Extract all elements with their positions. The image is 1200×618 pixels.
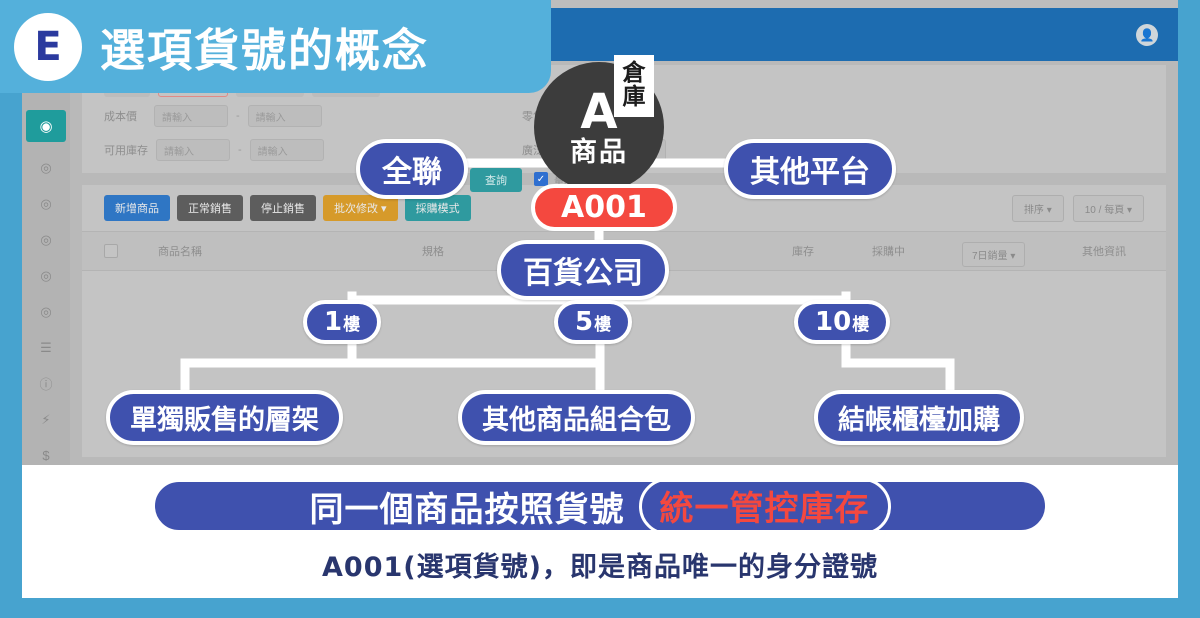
warehouse-badge-char-1: 倉 — [623, 62, 646, 86]
floor-unit: 樓 — [343, 310, 360, 335]
node-leaf-checkout-addon: 結帳櫃檯加購 — [814, 390, 1024, 445]
floor-number: 1 — [324, 307, 342, 337]
root-word: 商品 — [570, 139, 628, 166]
warehouse-badge-char-2: 庫 — [623, 86, 646, 110]
page-title: 選項貨號的概念 — [100, 14, 429, 79]
node-leaf-standalone-shelf: 單獨販售的層架 — [106, 390, 343, 445]
root-letter: A — [580, 88, 617, 136]
logo-letter: E — [34, 24, 61, 70]
brand-logo-icon: E — [14, 13, 82, 81]
node-leaf-bundle-pack: 其他商品組合包 — [458, 390, 695, 445]
summary-banner: 同一個商品按照貨號 統一管控庫存 — [151, 478, 1049, 534]
screenshot-root: 👤 🗏 ◉ ◎ ◎ ◎ ◎ ◎ ☰ ⓘ ⚡ $ 全部 正常銷售 停止銷售 尚未確… — [0, 0, 1200, 618]
floor-number: 5 — [575, 307, 593, 337]
floor-unit: 樓 — [852, 310, 869, 335]
node-floor-5: 5樓 — [554, 300, 632, 344]
subtitle-text: A001(選項貨號)，即是商品唯一的身分證號 — [0, 545, 1200, 584]
sku-pill: A001 — [531, 184, 677, 231]
warehouse-badge: 倉 庫 — [614, 55, 654, 117]
floor-number: 10 — [815, 307, 851, 337]
summary-text: 同一個商品按照貨號 — [310, 482, 625, 531]
node-channel-right: 其他平台 — [724, 139, 896, 199]
node-channel-left: 全聯 — [356, 139, 468, 199]
title-banner: E 選項貨號的概念 — [0, 0, 551, 93]
summary-highlight: 統一管控庫存 — [639, 478, 891, 535]
node-floor-10: 10樓 — [794, 300, 890, 344]
node-department-store: 百貨公司 — [497, 240, 669, 300]
floor-unit: 樓 — [594, 310, 611, 335]
node-floor-1: 1樓 — [303, 300, 381, 344]
